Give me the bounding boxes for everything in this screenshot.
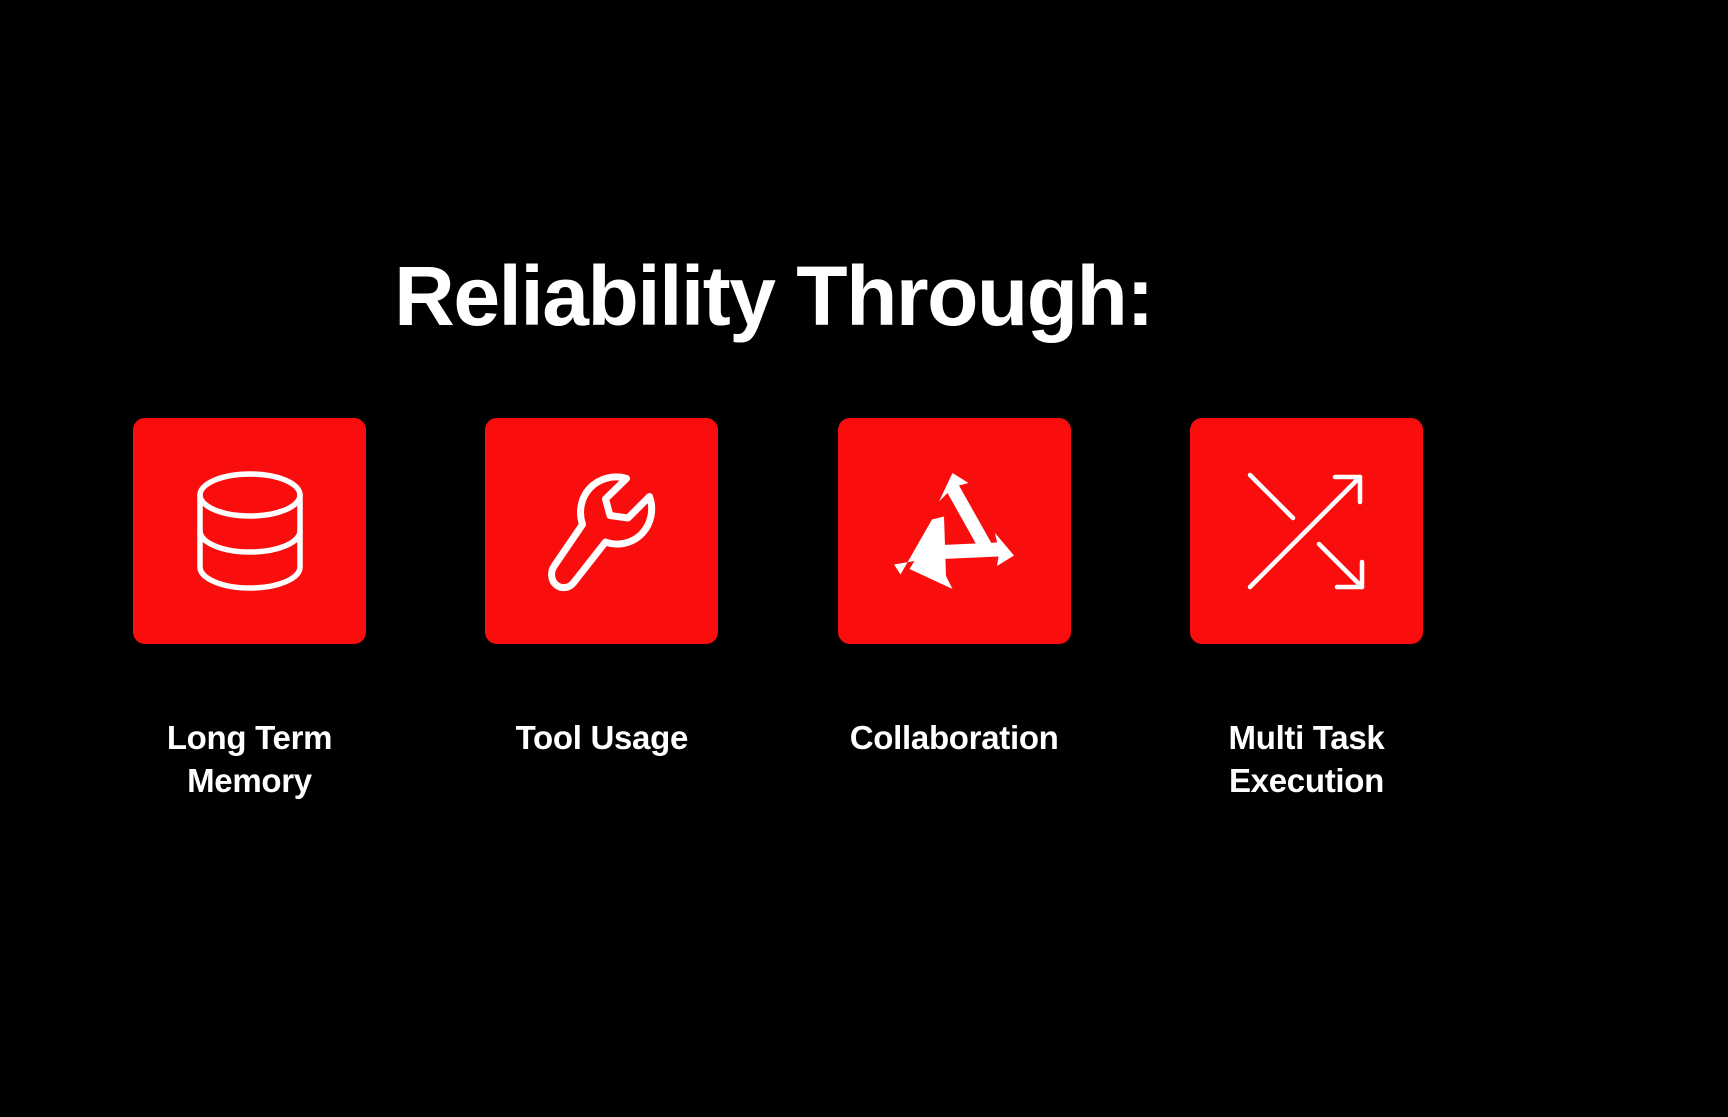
feature-card-label: Multi Task Execution — [1229, 717, 1385, 803]
icon-tile-collaboration[interactable] — [838, 418, 1071, 644]
feature-card-label: Long Term Memory — [167, 717, 332, 803]
database-icon — [196, 470, 304, 592]
feature-card-label: Collaboration — [850, 717, 1059, 760]
feature-card-long-term-memory[interactable]: Long Term Memory — [133, 418, 366, 803]
feature-card-multi-task-execution[interactable]: Multi Task Execution — [1190, 418, 1423, 803]
feature-card-row: Long Term Memory Tool Usage — [133, 418, 1423, 838]
feature-card-label: Tool Usage — [516, 717, 688, 760]
wrench-icon — [541, 470, 663, 592]
icon-tile-multi-task-execution[interactable] — [1190, 418, 1423, 644]
icon-tile-tool-usage[interactable] — [485, 418, 718, 644]
feature-card-collaboration[interactable]: Collaboration — [838, 418, 1071, 760]
shuffle-arrows-icon — [1245, 470, 1367, 592]
recycle-arrows-icon — [892, 471, 1016, 591]
presentation-slide: Reliability Through: Long Term Memory — [0, 0, 1547, 1117]
icon-tile-long-term-memory[interactable] — [133, 418, 366, 644]
page-title: Reliability Through: — [0, 254, 1547, 338]
feature-card-tool-usage[interactable]: Tool Usage — [485, 418, 718, 760]
